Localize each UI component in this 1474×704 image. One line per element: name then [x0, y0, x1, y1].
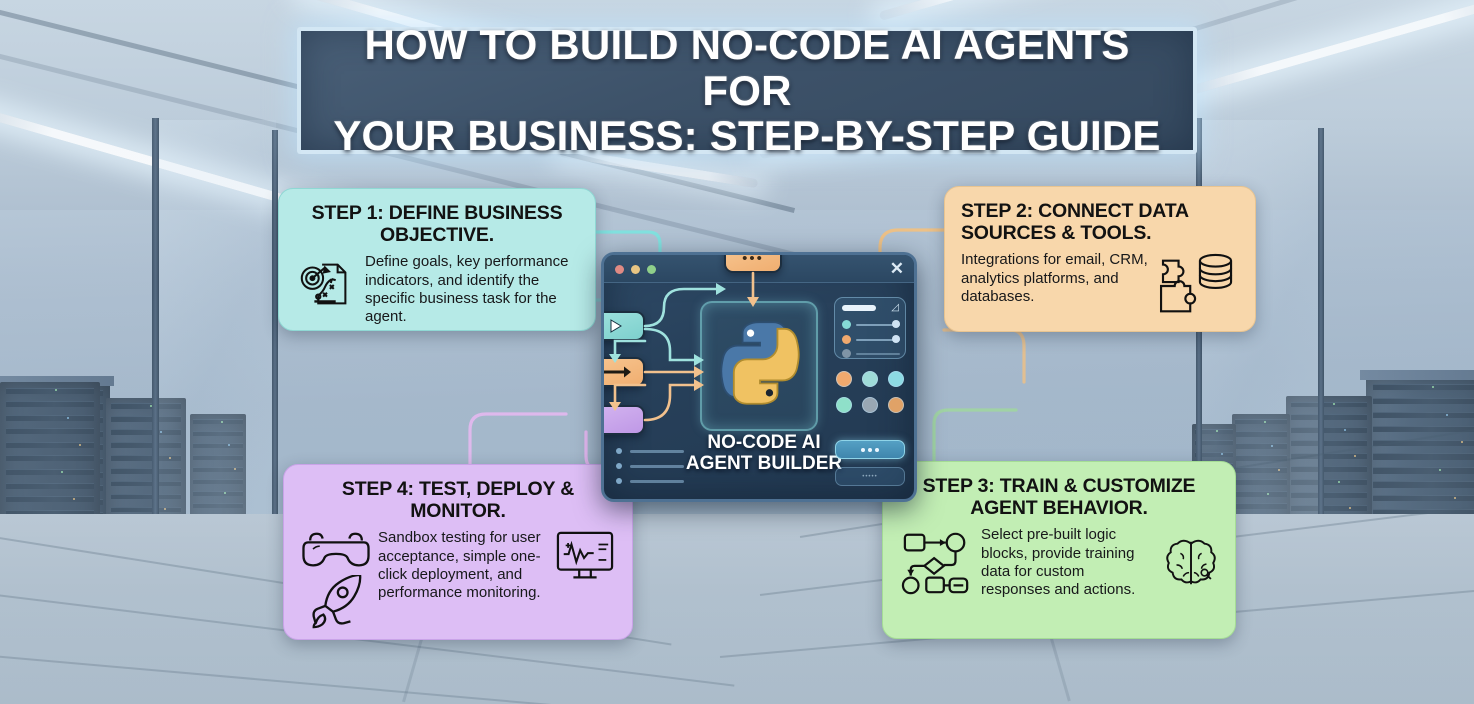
- puzzle-piece-icon: [1161, 261, 1195, 312]
- slider-teal-handle[interactable]: [892, 320, 900, 328]
- circle-button[interactable]: [888, 371, 904, 387]
- circle-button[interactable]: [836, 371, 852, 387]
- step-1-title: STEP 1: DEFINE BUSINESS OBJECTIVE.: [295, 202, 579, 246]
- step-4-description: Sandbox testing for user acceptance, sim…: [378, 529, 548, 602]
- arrow-head: [694, 366, 704, 378]
- slider-orange-knob[interactable]: [842, 335, 851, 344]
- title-line-2: YOUR BUSINESS: STEP-BY-STEP GUIDE: [327, 113, 1167, 158]
- target-document-icon: [295, 253, 357, 315]
- arrow-head: [609, 402, 621, 411]
- brain-icon: [1163, 534, 1219, 592]
- monitor-chart-icon: [554, 529, 616, 587]
- step-2-title: STEP 2: CONNECT DATA SOURCES & TOOLS.: [961, 200, 1239, 244]
- builder-label-line-2: AGENT BUILDER: [684, 454, 844, 475]
- step-card-1[interactable]: STEP 1: DEFINE BUSINESS OBJECTIVE. Defin…: [278, 188, 596, 331]
- goggles-icon: [300, 529, 372, 573]
- step-card-3[interactable]: STEP 3: TRAIN & CUSTOMIZE AGENT BEHAVIOR…: [882, 461, 1236, 639]
- panel-expand-icon[interactable]: ◿: [891, 302, 899, 313]
- slider-gray-track[interactable]: [856, 353, 900, 355]
- python-logo: [720, 317, 800, 409]
- puzzle-database-icons: [1157, 251, 1239, 321]
- step-card-2[interactable]: STEP 2: CONNECT DATA SOURCES & TOOLS. In…: [944, 186, 1256, 332]
- step-2-description: Integrations for email, CRM, analytics p…: [961, 251, 1149, 306]
- rocket-icon: [300, 575, 368, 631]
- step-3-title: STEP 3: TRAIN & CUSTOMIZE AGENT BEHAVIOR…: [899, 475, 1219, 519]
- circle-button[interactable]: [862, 397, 878, 413]
- page-title: HOW TO BUILD NO-CODE AI AGENTS FOR YOUR …: [297, 27, 1197, 154]
- arrow-head: [694, 354, 704, 366]
- panel-title-bar: [842, 305, 876, 311]
- arrow-head: [609, 354, 621, 363]
- step-1-description: Define goals, key performance indicators…: [365, 253, 579, 326]
- builder-window-label: NO-CODE AI AGENT BUILDER: [684, 433, 844, 474]
- flowchart-icon: [899, 527, 975, 599]
- arrow-head: [716, 283, 726, 295]
- database-icon: [1200, 255, 1231, 288]
- step-card-4[interactable]: STEP 4: TEST, DEPLOY & MONITOR. Sandbox: [283, 464, 633, 640]
- title-line-1: HOW TO BUILD NO-CODE AI AGENTS FOR: [327, 22, 1167, 113]
- step-3-description: Select pre-built logic blocks, provide t…: [981, 526, 1157, 599]
- page-title-text: HOW TO BUILD NO-CODE AI AGENTS FOR YOUR …: [301, 22, 1193, 158]
- panel-secondary-button[interactable]: •••••: [835, 467, 905, 486]
- slider-teal-knob[interactable]: [842, 320, 851, 329]
- circle-button[interactable]: [836, 397, 852, 413]
- panel-card: ◿: [834, 297, 906, 359]
- circle-button[interactable]: [862, 371, 878, 387]
- arrow-head: [694, 379, 704, 391]
- circle-button[interactable]: [888, 397, 904, 413]
- arrow-head: [747, 297, 759, 307]
- properties-panel[interactable]: ◿: [834, 297, 906, 482]
- slider-orange[interactable]: [842, 335, 900, 344]
- slider-gray-knob[interactable]: [842, 349, 851, 358]
- slider-teal[interactable]: [842, 320, 900, 329]
- slider-orange-handle[interactable]: [892, 335, 900, 343]
- builder-window[interactable]: ✕ •••: [601, 252, 917, 502]
- panel-primary-button[interactable]: [835, 440, 905, 459]
- step-4-title: STEP 4: TEST, DEPLOY & MONITOR.: [300, 478, 616, 522]
- slider-gray[interactable]: [842, 349, 900, 358]
- infographic-canvas: HOW TO BUILD NO-CODE AI AGENTS FOR YOUR …: [0, 0, 1474, 704]
- builder-label-line-1: NO-CODE AI: [684, 433, 844, 454]
